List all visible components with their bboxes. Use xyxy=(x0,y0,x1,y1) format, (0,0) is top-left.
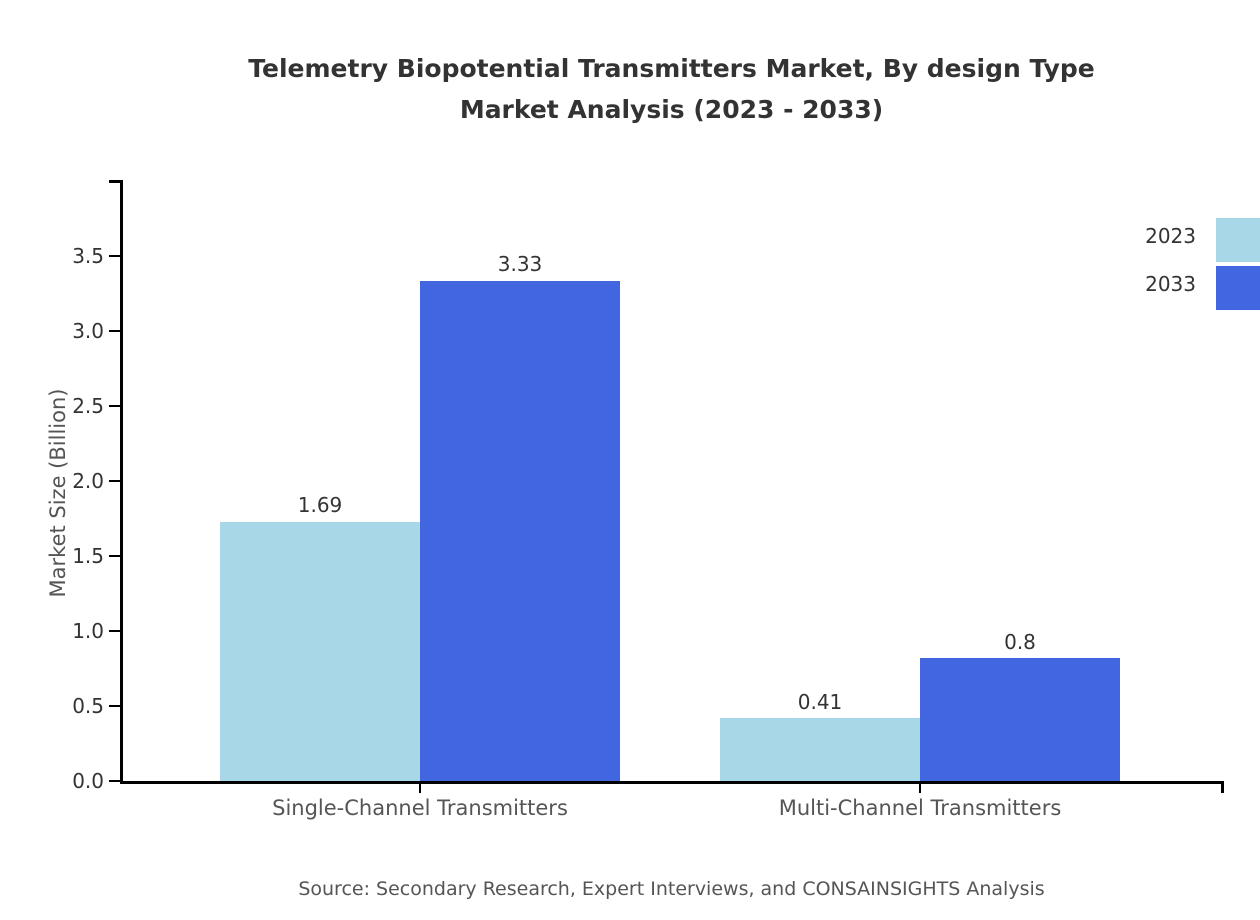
y-tick-mark-1 xyxy=(109,705,121,707)
x-tick-label-single-channel-transmitters: Single-Channel Transmitters xyxy=(210,796,630,820)
y-tick-mark-5 xyxy=(109,405,121,407)
bar-multi-channel-2033[interactable] xyxy=(920,658,1120,781)
y-axis-top-cap-tick xyxy=(109,180,121,183)
y-tick-mark-2 xyxy=(109,630,121,632)
chart-title-line-2: Market Analysis (2023 - 2033) xyxy=(0,89,1260,130)
bar-value-label-multi-channel-2023: 0.41 xyxy=(720,692,920,712)
bar-value-label-single-channel-2033: 3.33 xyxy=(420,254,620,274)
y-tick-label-0: 0.0 xyxy=(0,771,104,791)
y-tick-mark-6 xyxy=(109,330,121,332)
source-note: Source: Secondary Research, Expert Inter… xyxy=(0,878,1260,900)
legend-label-2023: 2023 xyxy=(1128,226,1196,246)
chart-title-line-1: Telemetry Biopotential Transmitters Mark… xyxy=(248,54,1094,83)
legend-swatch-2023 xyxy=(1216,218,1260,262)
x-tick-mark-0 xyxy=(419,781,421,793)
legend-label-2033: 2033 xyxy=(1128,274,1196,294)
y-tick-mark-4 xyxy=(109,480,121,482)
y-tick-label-7: 3.5 xyxy=(0,246,104,266)
x-axis-end-cap-tick xyxy=(1221,781,1224,793)
y-tick-mark-3 xyxy=(109,555,121,557)
y-tick-label-3: 1.5 xyxy=(0,546,104,566)
y-tick-label-6: 3.0 xyxy=(0,321,104,341)
x-tick-label-multi-channel-transmitters: Multi-Channel Transmitters xyxy=(710,796,1130,820)
bar-multi-channel-2023[interactable] xyxy=(720,718,920,781)
bar-value-label-single-channel-2023: 1.69 xyxy=(220,495,420,515)
chart-title: Telemetry Biopotential Transmitters Mark… xyxy=(0,48,1260,130)
y-tick-label-4: 2.0 xyxy=(0,471,104,491)
y-tick-mark-7 xyxy=(109,255,121,257)
y-tick-mark-0 xyxy=(109,780,121,782)
bar-chart-figure: Telemetry Biopotential Transmitters Mark… xyxy=(0,0,1260,920)
x-axis-line xyxy=(120,781,1224,784)
y-tick-label-2: 1.0 xyxy=(0,621,104,641)
y-tick-label-5: 2.5 xyxy=(0,396,104,416)
bar-value-label-multi-channel-2033: 0.8 xyxy=(920,632,1120,652)
x-tick-mark-1 xyxy=(919,781,921,793)
legend-swatch-2033 xyxy=(1216,266,1260,310)
bar-single-channel-2033[interactable] xyxy=(420,281,620,781)
y-tick-label-1: 0.5 xyxy=(0,696,104,716)
bar-single-channel-2023[interactable] xyxy=(220,522,420,781)
